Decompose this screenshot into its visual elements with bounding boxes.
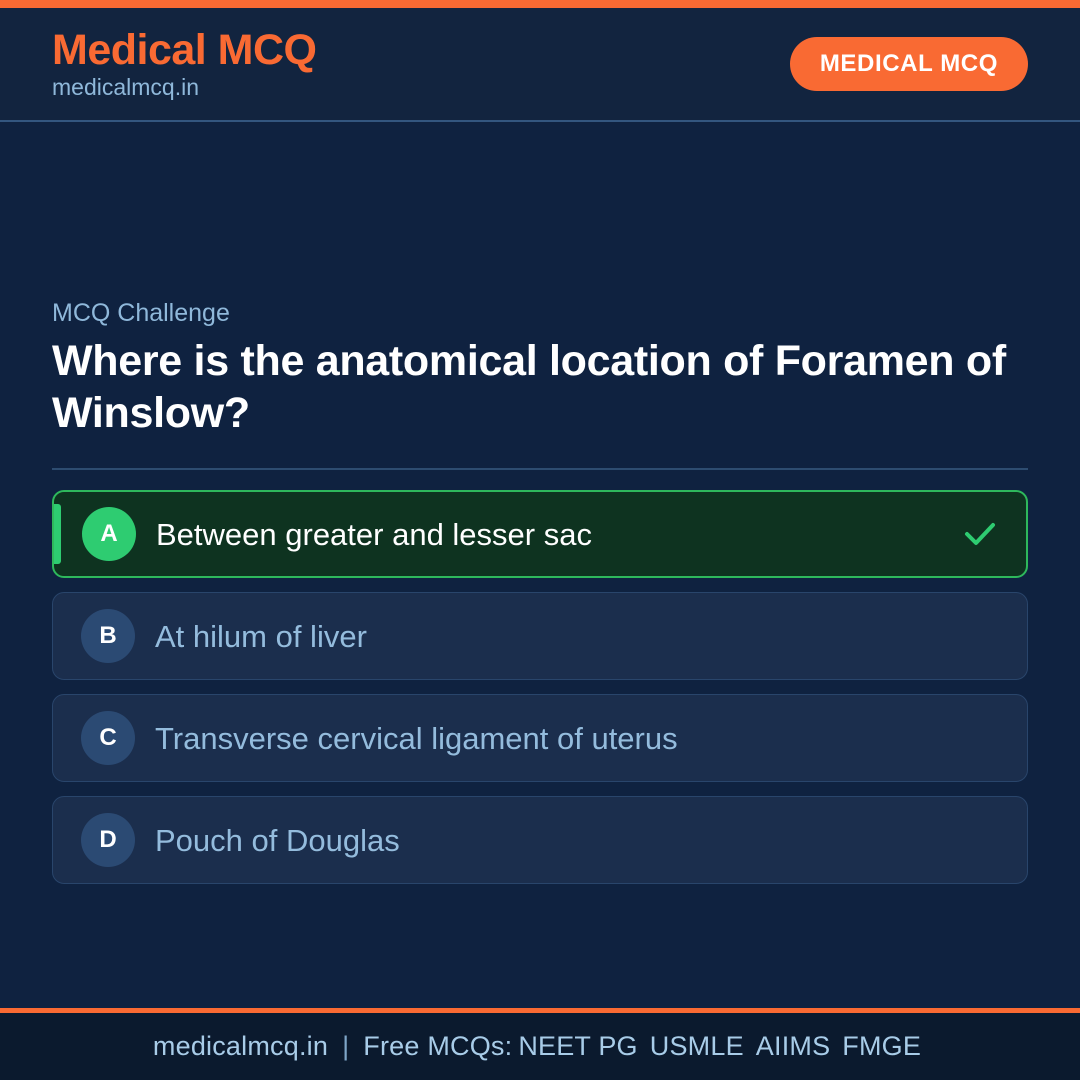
correct-accent-bar (54, 504, 61, 564)
footer-separator: | (328, 1031, 363, 1061)
option-c-letter: C (81, 711, 135, 765)
footer-bar: medicalmcq.in|Free MCQs:NEET PGUSMLEAIIM… (0, 1008, 1080, 1080)
question-divider (52, 468, 1028, 470)
footer-site[interactable]: medicalmcq.in (153, 1031, 328, 1061)
footer-exam-neet-pg[interactable]: NEET PG (512, 1031, 643, 1061)
footer-exam-fmge[interactable]: FMGE (836, 1031, 927, 1061)
footer-text: medicalmcq.in|Free MCQs:NEET PGUSMLEAIIM… (153, 1031, 927, 1062)
top-accent-rule (0, 0, 1080, 8)
footer-exam-aiims[interactable]: AIIMS (750, 1031, 837, 1061)
brand-block: Medical MCQ medicalmcq.in (52, 28, 317, 100)
options-list: A Between greater and lesser sac B At hi… (52, 490, 1028, 884)
question-block: MCQ Challenge Where is the anatomical lo… (52, 298, 1028, 439)
brand-subtitle: medicalmcq.in (52, 75, 317, 100)
option-b-letter: B (81, 609, 135, 663)
brand-title: Medical MCQ (52, 28, 317, 73)
question-text: Where is the anatomical location of Fora… (52, 336, 1012, 439)
option-d-letter: D (81, 813, 135, 867)
main-content: MCQ Challenge Where is the anatomical lo… (0, 122, 1080, 1008)
option-b[interactable]: B At hilum of liver (52, 592, 1028, 680)
option-a[interactable]: A Between greater and lesser sac (52, 490, 1028, 578)
option-a-letter: A (82, 507, 136, 561)
option-c-text: Transverse cervical ligament of uterus (155, 720, 1001, 757)
option-a-text: Between greater and lesser sac (156, 516, 960, 553)
question-kicker: MCQ Challenge (52, 298, 1028, 328)
option-d-text: Pouch of Douglas (155, 822, 1001, 859)
footer-label: Free MCQs: (363, 1031, 512, 1061)
option-c[interactable]: C Transverse cervical ligament of uterus (52, 694, 1028, 782)
mcq-card: Medical MCQ medicalmcq.in MEDICAL MCQ MC… (0, 0, 1080, 1080)
brand-badge: MEDICAL MCQ (790, 37, 1028, 91)
footer-exam-usmle[interactable]: USMLE (644, 1031, 750, 1061)
header-bar: Medical MCQ medicalmcq.in MEDICAL MCQ (0, 8, 1080, 122)
check-icon (960, 514, 1000, 554)
option-d[interactable]: D Pouch of Douglas (52, 796, 1028, 884)
option-b-text: At hilum of liver (155, 618, 1001, 655)
